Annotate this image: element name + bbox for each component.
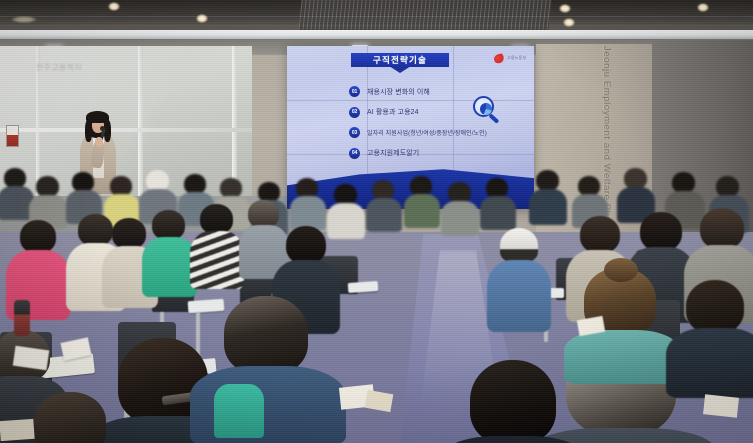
head	[286, 226, 326, 264]
glass-mullion	[138, 46, 143, 206]
downlight	[11, 16, 37, 23]
seminar-room-photo: Jeonju Employment and Welfare Plus Cente…	[0, 0, 753, 443]
downlight	[559, 4, 571, 13]
slide-logo-text: 고용노동부	[507, 55, 526, 61]
torso	[142, 237, 197, 297]
list-item: 02 AI 활용과 고용24	[349, 107, 531, 118]
list-item-label: 고용지원제도알기	[367, 148, 419, 158]
torso	[327, 203, 365, 239]
list-item-label: 채용시장 변화의 이해	[367, 87, 430, 97]
handout-paper	[703, 394, 739, 417]
head	[672, 172, 695, 193]
hair-bun	[604, 258, 638, 282]
head	[448, 182, 471, 203]
presenter-hand	[95, 137, 103, 147]
slide-logo: 고용노동부	[494, 52, 528, 64]
water-bottle	[14, 300, 30, 336]
ceiling	[0, 0, 753, 33]
torso	[480, 196, 516, 230]
head	[184, 174, 206, 194]
torso-striped	[190, 231, 244, 289]
list-item: 01 채용시장 변화의 이해	[349, 86, 531, 97]
head	[486, 178, 508, 198]
torso	[441, 201, 479, 236]
presenter-hair-side	[85, 120, 92, 142]
head	[72, 172, 94, 192]
microphone-head	[100, 126, 105, 131]
torso	[404, 194, 440, 228]
head	[700, 208, 744, 249]
head	[296, 178, 318, 198]
head	[36, 176, 59, 197]
downlight	[196, 14, 208, 23]
torso	[366, 198, 402, 232]
head	[220, 178, 242, 198]
wall-notice-sign	[6, 125, 19, 147]
head-with-cap	[146, 170, 169, 191]
head	[536, 170, 559, 191]
head	[686, 280, 744, 334]
glass-mullion	[0, 128, 252, 132]
head-with-white-cap	[500, 228, 538, 262]
ceiling-seam	[0, 25, 753, 26]
head	[78, 214, 113, 246]
head	[578, 176, 600, 196]
chair-tablet-arm	[188, 299, 225, 313]
list-item-number: 04	[349, 148, 360, 159]
list-item-label: AI 활용과 고용24	[367, 107, 419, 117]
torso	[564, 330, 680, 384]
chair-tablet-arm	[348, 281, 379, 293]
downlight	[563, 18, 575, 27]
head	[372, 180, 394, 200]
head	[716, 176, 739, 197]
handout-paper	[0, 419, 35, 441]
head	[248, 200, 279, 228]
list-item-number: 02	[349, 107, 360, 118]
magnifying-glass-pie-chart-icon	[473, 96, 503, 126]
head	[640, 212, 682, 251]
magnifier-handle	[489, 113, 500, 123]
head	[152, 210, 185, 240]
pie-chart-icon	[480, 103, 492, 115]
glass-partition-text: 전주고용복지	[18, 62, 100, 102]
slide-agenda-list: 01 채용시장 변화의 이해 02 AI 활용과 고용24 03 일자리 지원사…	[349, 86, 531, 168]
ceiling-seam	[0, 16, 753, 17]
torso	[529, 189, 567, 225]
magnifier-lens	[473, 96, 494, 117]
head	[34, 392, 106, 443]
downlight	[108, 2, 120, 11]
torso	[487, 260, 551, 332]
list-item-number: 01	[349, 86, 360, 97]
head	[258, 182, 280, 202]
ceiling-soffit-light	[0, 30, 753, 39]
list-item: 04 고용지원제도알기	[349, 148, 531, 159]
torso	[666, 328, 753, 398]
neighbor-torso	[214, 384, 264, 438]
head	[200, 204, 233, 234]
head	[4, 168, 26, 188]
head	[110, 176, 132, 196]
head	[20, 220, 56, 253]
head	[334, 184, 357, 205]
head	[470, 360, 556, 443]
korea-flag-logo-icon	[493, 52, 506, 63]
slide-title-text: 구직전략기술	[351, 53, 449, 67]
head	[410, 176, 432, 196]
list-item-number: 03	[349, 127, 360, 138]
list-item: 03 일자리 지원사업(청년/여성/중장년/장애인/노인)	[349, 127, 531, 138]
head	[112, 218, 146, 249]
torso	[290, 196, 326, 230]
list-item-label: 일자리 지원사업(청년/여성/중장년/장애인/노인)	[367, 128, 487, 137]
head	[224, 296, 308, 374]
head	[624, 168, 647, 189]
head	[580, 216, 620, 253]
slide-title-pointer	[389, 66, 411, 73]
slide-title-banner: 구직전략기술	[351, 53, 449, 72]
downlight	[697, 3, 709, 12]
